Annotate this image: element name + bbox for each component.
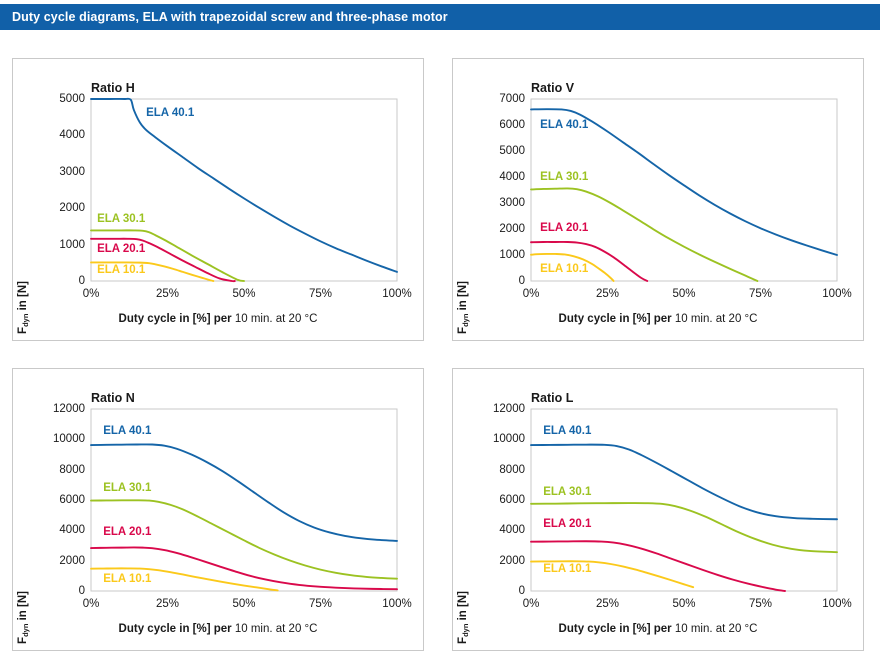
- y-tick-label: 3000: [27, 166, 85, 178]
- y-tick-label: 4000: [467, 524, 525, 536]
- y-tick-label: 10000: [27, 433, 85, 445]
- y-tick-label: 4000: [27, 129, 85, 141]
- y-tick-label: 2000: [467, 223, 525, 235]
- y-tick-label: 2000: [27, 555, 85, 567]
- x-axis-label: Duty cycle in [%] per 10 min. at 20 °C: [453, 313, 863, 325]
- series-label-ela-30-1: ELA 30.1: [97, 213, 145, 225]
- x-tick-label: 100%: [382, 288, 411, 300]
- chart-panel-ratio-l: Ratio LFdyn in [N]0200040006000800010000…: [452, 368, 864, 651]
- series-label-ela-20-1: ELA 20.1: [103, 526, 151, 538]
- y-tick-label: 6000: [467, 494, 525, 506]
- series-label-ela-30-1: ELA 30.1: [540, 171, 588, 183]
- x-tick-label: 100%: [822, 288, 851, 300]
- x-tick-label: 25%: [596, 288, 619, 300]
- page-title: Duty cycle diagrams, ELA with trapezoida…: [0, 10, 448, 24]
- x-tick-label: 0%: [83, 598, 100, 610]
- header-bar: Duty cycle diagrams, ELA with trapezoida…: [0, 4, 880, 30]
- x-tick-label: 100%: [382, 598, 411, 610]
- x-tick-label: 50%: [672, 598, 695, 610]
- y-tick-label: 12000: [467, 403, 525, 415]
- series-label-ela-40-1: ELA 40.1: [146, 107, 194, 119]
- x-tick-label: 100%: [822, 598, 851, 610]
- y-tick-label: 5000: [27, 93, 85, 105]
- y-tick-label: 12000: [27, 403, 85, 415]
- chart-grid: Ratio HFdyn in [N]0100020003000400050000…: [0, 40, 880, 660]
- chart-panel-ratio-n: Ratio NFdyn in [N]0200040006000800010000…: [12, 368, 424, 651]
- y-tick-label: 4000: [467, 171, 525, 183]
- y-tick-label: 1000: [467, 249, 525, 261]
- x-tick-label: 75%: [749, 288, 772, 300]
- series-label-ela-40-1: ELA 40.1: [103, 425, 151, 437]
- y-tick-label: 4000: [27, 524, 85, 536]
- chart-panel-ratio-h: Ratio HFdyn in [N]0100020003000400050000…: [12, 58, 424, 341]
- series-label-ela-20-1: ELA 20.1: [97, 243, 145, 255]
- x-tick-label: 25%: [156, 288, 179, 300]
- series-label-ela-40-1: ELA 40.1: [543, 425, 591, 437]
- series-label-ela-10-1: ELA 10.1: [103, 573, 151, 585]
- y-tick-label: 6000: [467, 119, 525, 131]
- series-label-ela-20-1: ELA 20.1: [540, 222, 588, 234]
- x-tick-label: 75%: [309, 598, 332, 610]
- x-tick-label: 75%: [309, 288, 332, 300]
- y-tick-label: 1000: [27, 239, 85, 251]
- x-tick-label: 75%: [749, 598, 772, 610]
- x-tick-label: 0%: [523, 598, 540, 610]
- series-label-ela-10-1: ELA 10.1: [543, 563, 591, 575]
- y-tick-label: 0: [27, 275, 85, 287]
- y-tick-label: 2000: [467, 555, 525, 567]
- x-tick-label: 50%: [672, 288, 695, 300]
- y-tick-label: 6000: [27, 494, 85, 506]
- y-tick-label: 0: [467, 275, 525, 287]
- x-axis-label: Duty cycle in [%] per 10 min. at 20 °C: [13, 623, 423, 635]
- y-tick-label: 3000: [467, 197, 525, 209]
- y-tick-label: 8000: [27, 464, 85, 476]
- x-axis-label: Duty cycle in [%] per 10 min. at 20 °C: [13, 313, 423, 325]
- chart-panel-ratio-v: Ratio VFdyn in [N]0100020003000400050006…: [452, 58, 864, 341]
- series-label-ela-10-1: ELA 10.1: [540, 263, 588, 275]
- x-tick-label: 25%: [596, 598, 619, 610]
- series-line-ela-30-1: [91, 500, 397, 578]
- x-tick-label: 50%: [232, 288, 255, 300]
- series-label-ela-20-1: ELA 20.1: [543, 518, 591, 530]
- y-tick-label: 2000: [27, 202, 85, 214]
- page-root: Duty cycle diagrams, ELA with trapezoida…: [0, 0, 880, 663]
- y-tick-label: 0: [27, 585, 85, 597]
- y-tick-label: 5000: [467, 145, 525, 157]
- y-tick-label: 7000: [467, 93, 525, 105]
- y-tick-label: 8000: [467, 464, 525, 476]
- series-label-ela-30-1: ELA 30.1: [543, 486, 591, 498]
- y-tick-label: 10000: [467, 433, 525, 445]
- series-label-ela-30-1: ELA 30.1: [103, 482, 151, 494]
- x-tick-label: 50%: [232, 598, 255, 610]
- x-tick-label: 25%: [156, 598, 179, 610]
- series-label-ela-40-1: ELA 40.1: [540, 119, 588, 131]
- x-tick-label: 0%: [83, 288, 100, 300]
- x-tick-label: 0%: [523, 288, 540, 300]
- x-axis-label: Duty cycle in [%] per 10 min. at 20 °C: [453, 623, 863, 635]
- series-label-ela-10-1: ELA 10.1: [97, 264, 145, 276]
- y-tick-label: 0: [467, 585, 525, 597]
